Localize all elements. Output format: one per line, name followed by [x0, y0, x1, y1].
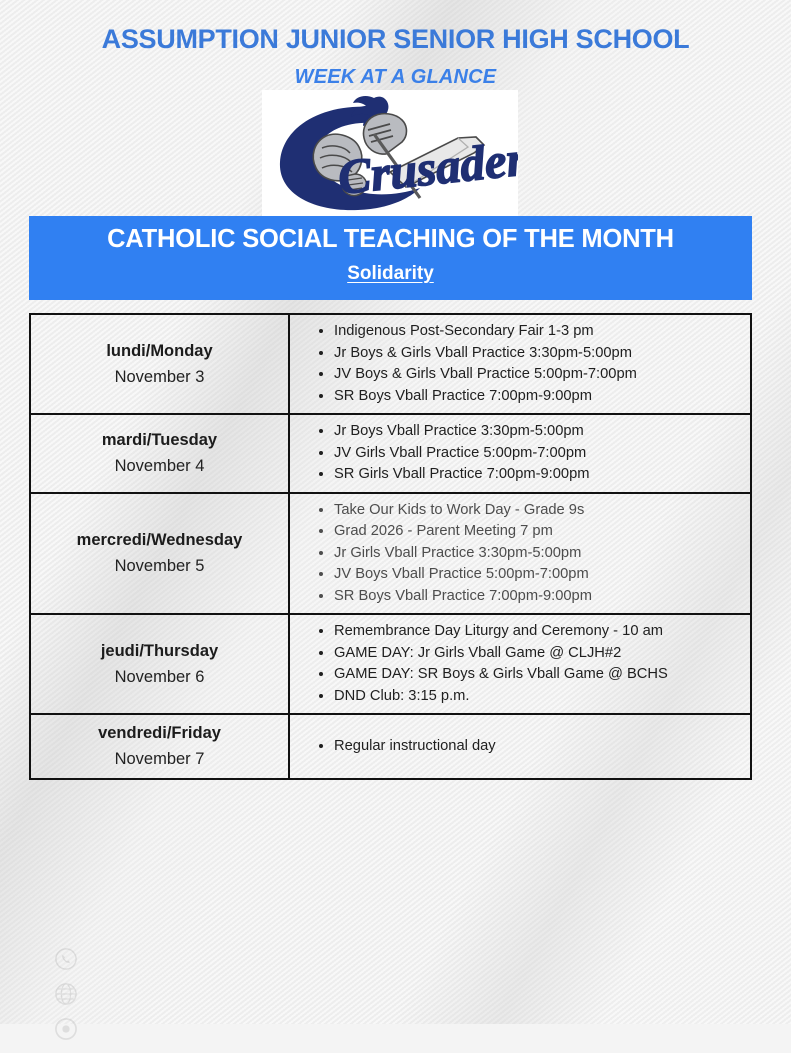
day-date: November 6: [35, 664, 284, 690]
page-title: ASSUMPTION JUNIOR SENIOR HIGH SCHOOL: [0, 24, 791, 55]
day-name: mardi/Tuesday: [35, 428, 284, 453]
schedule-body: lundi/MondayNovember 3Indigenous Post-Se…: [30, 314, 751, 779]
table-row: vendredi/FridayNovember 7Regular instruc…: [30, 714, 751, 779]
list-item: JV Girls Vball Practice 5:00pm-7:00pm: [334, 443, 740, 465]
events-list: Regular instructional day: [304, 736, 740, 758]
list-item: SR Boys Vball Practice 7:00pm-9:00pm: [334, 586, 740, 608]
catholic-social-teaching-banner: CATHOLIC SOCIAL TEACHING OF THE MONTH So…: [29, 216, 752, 300]
watermark-contact-icons: [55, 948, 81, 1053]
events-cell: Jr Boys Vball Practice 3:30pm-5:00pmJV G…: [289, 414, 751, 493]
banner-title: CATHOLIC SOCIAL TEACHING OF THE MONTH: [29, 221, 752, 257]
day-date: November 7: [35, 746, 284, 772]
crusader-knight-logo: Crusaders: [262, 90, 518, 217]
day-name: vendredi/Friday: [35, 721, 284, 746]
list-item: Regular instructional day: [334, 736, 740, 758]
day-cell: mardi/TuesdayNovember 4: [30, 414, 289, 493]
table-row: mardi/TuesdayNovember 4Jr Boys Vball Pra…: [30, 414, 751, 493]
list-item: Remembrance Day Liturgy and Ceremony - 1…: [334, 621, 740, 643]
events-list: Indigenous Post-Secondary Fair 1-3 pmJr …: [304, 321, 740, 407]
list-item: SR Girls Vball Practice 7:00pm-9:00pm: [334, 464, 740, 486]
table-row: lundi/MondayNovember 3Indigenous Post-Se…: [30, 314, 751, 414]
events-cell: Indigenous Post-Secondary Fair 1-3 pmJr …: [289, 314, 751, 414]
list-item: GAME DAY: Jr Girls Vball Game @ CLJH#2: [334, 643, 740, 665]
week-at-a-glance-poster: ASSUMPTION JUNIOR SENIOR HIGH SCHOOL WEE…: [0, 0, 791, 1024]
day-date: November 5: [35, 553, 284, 579]
list-item: Indigenous Post-Secondary Fair 1-3 pm: [334, 321, 740, 343]
list-item: Jr Boys & Girls Vball Practice 3:30pm-5:…: [334, 343, 740, 365]
list-item: GAME DAY: SR Boys & Girls Vball Game @ B…: [334, 664, 740, 686]
day-cell: vendredi/FridayNovember 7: [30, 714, 289, 779]
circle-icon: [55, 1018, 77, 1040]
globe-icon: [55, 983, 77, 1005]
events-cell: Regular instructional day: [289, 714, 751, 779]
page-subtitle: WEEK AT A GLANCE: [0, 66, 791, 89]
day-name: lundi/Monday: [35, 339, 284, 364]
day-date: November 3: [35, 364, 284, 390]
list-item: Jr Boys Vball Practice 3:30pm-5:00pm: [334, 421, 740, 443]
list-item: JV Boys Vball Practice 5:00pm-7:00pm: [334, 564, 740, 586]
day-cell: jeudi/ThursdayNovember 6: [30, 614, 289, 714]
day-name: jeudi/Thursday: [35, 639, 284, 664]
events-list: Remembrance Day Liturgy and Ceremony - 1…: [304, 621, 740, 707]
list-item: Jr Girls Vball Practice 3:30pm-5:00pm: [334, 543, 740, 565]
day-name: mercredi/Wednesday: [35, 528, 284, 553]
events-list: Jr Boys Vball Practice 3:30pm-5:00pmJV G…: [304, 421, 740, 486]
table-row: mercredi/WednesdayNovember 5Take Our Kid…: [30, 493, 751, 615]
day-date: November 4: [35, 453, 284, 479]
weekly-schedule-table: lundi/MondayNovember 3Indigenous Post-Se…: [29, 313, 752, 780]
list-item: DND Club: 3:15 p.m.: [334, 686, 740, 708]
day-cell: lundi/MondayNovember 3: [30, 314, 289, 414]
day-cell: mercredi/WednesdayNovember 5: [30, 493, 289, 615]
list-item: SR Boys Vball Practice 7:00pm-9:00pm: [334, 386, 740, 408]
list-item: JV Boys & Girls Vball Practice 5:00pm-7:…: [334, 364, 740, 386]
list-item: Grad 2026 - Parent Meeting 7 pm: [334, 521, 740, 543]
crusaders-logo-graphic: Crusaders: [262, 90, 518, 217]
events-cell: Remembrance Day Liturgy and Ceremony - 1…: [289, 614, 751, 714]
events-list: Take Our Kids to Work Day - Grade 9sGrad…: [304, 500, 740, 608]
events-cell: Take Our Kids to Work Day - Grade 9sGrad…: [289, 493, 751, 615]
list-item: Take Our Kids to Work Day - Grade 9s: [334, 500, 740, 522]
banner-subtitle: Solidarity: [29, 259, 752, 289]
table-row: jeudi/ThursdayNovember 6Remembrance Day …: [30, 614, 751, 714]
phone-icon: [55, 948, 77, 970]
